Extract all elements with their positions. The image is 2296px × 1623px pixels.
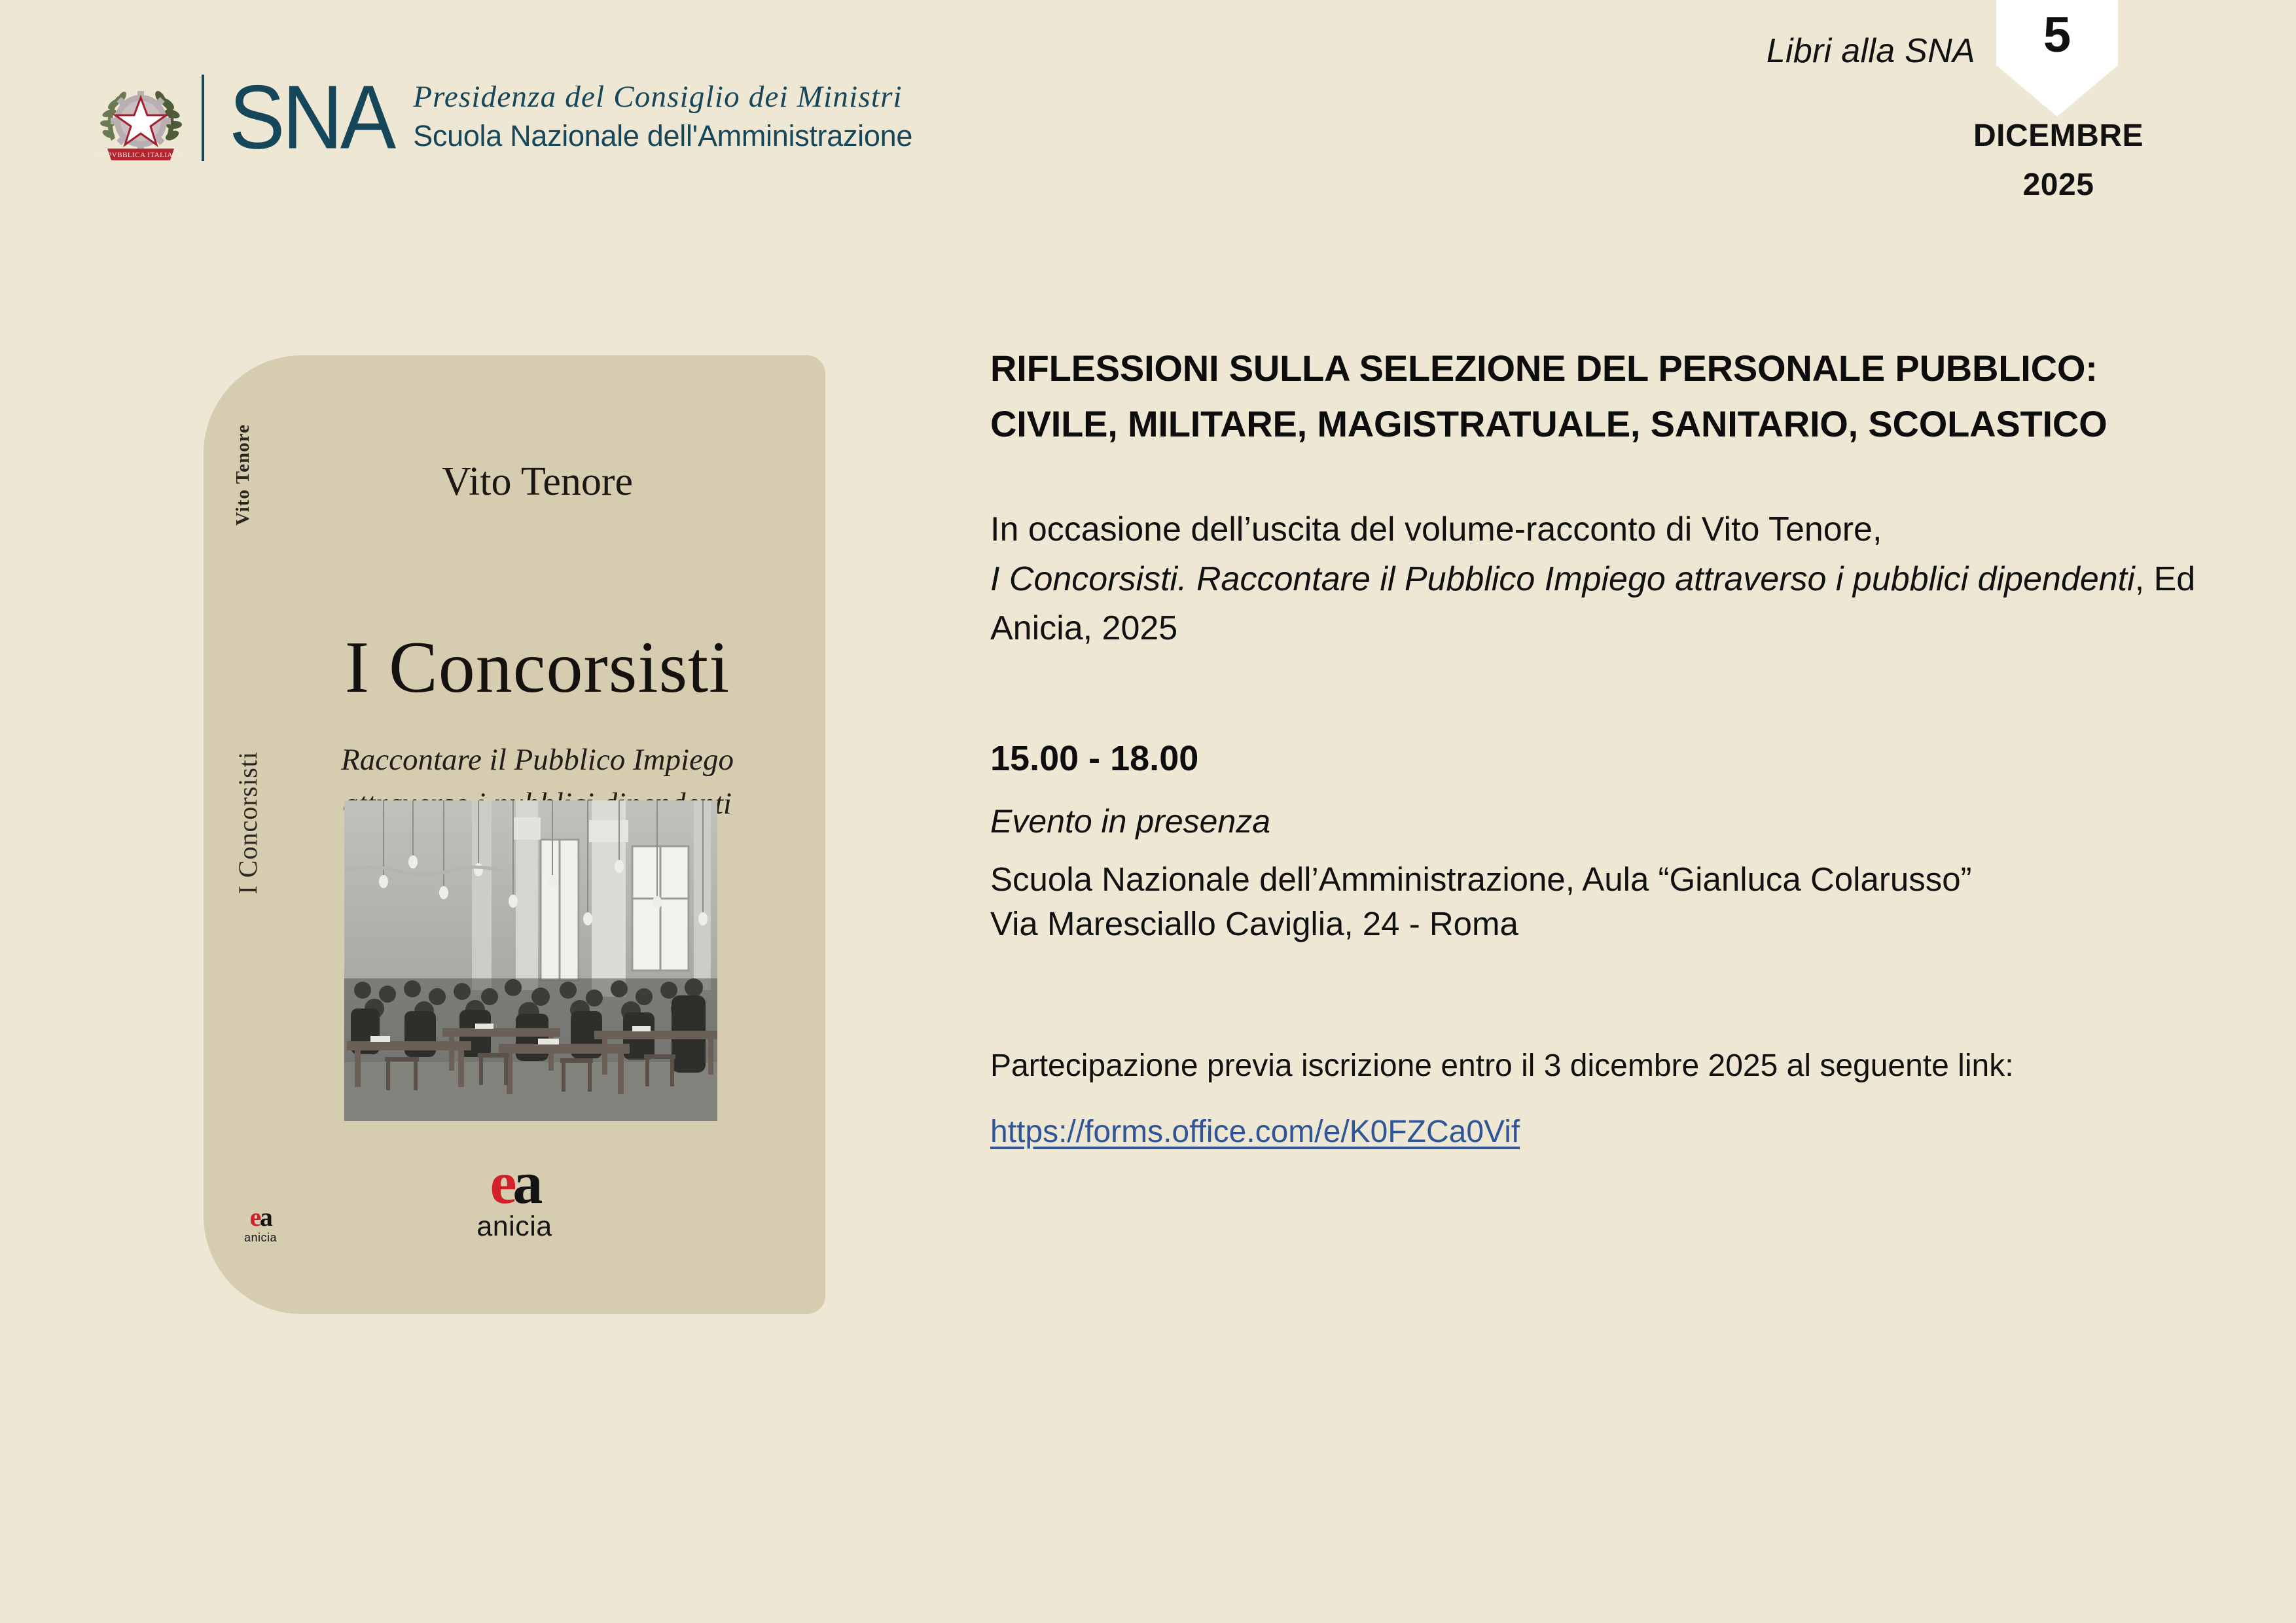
publisher-name-small: anicia [244, 1231, 277, 1245]
book-title: I Concorsisti [276, 626, 799, 710]
event-details: RIFLESSIONI SULLA SELEZIONE DEL PERSONAL… [990, 340, 2208, 1150]
book-cover-photo [344, 800, 717, 1121]
publisher-name: anicia [204, 1211, 825, 1243]
logo-divider [202, 75, 204, 161]
event-title: RIFLESSIONI SULLA SELEZIONE DEL PERSONAL… [990, 340, 2208, 452]
sna-wordmark: Presidenza del Consiglio dei Ministri Sc… [413, 79, 912, 157]
date-month: DICEMBRE [1944, 118, 2173, 154]
italian-republic-emblem-icon: REPVBBLICA ITALIANA [98, 69, 183, 167]
book-cover: Vito Tenore I Concorsisti Vito Tenore I … [204, 355, 825, 1314]
book-author: Vito Tenore [276, 459, 799, 505]
date-year: 2025 [1944, 167, 2173, 203]
publisher-mark-icon-small: ea [244, 1206, 277, 1228]
svg-text:REPVBBLICA ITALIANA: REPVBBLICA ITALIANA [98, 151, 183, 159]
book-spine-author: Vito Tenore [232, 424, 254, 526]
scuola-line: Scuola Nazionale dell'Amministrazione [413, 118, 912, 154]
sna-header-logo: REPVBBLICA ITALIANA SNA Presidenza del C… [98, 69, 912, 167]
event-venue-line1: Scuola Nazionale dell’Amministrazione, A… [990, 857, 2208, 901]
registration-note: Partecipazione previa iscrizione entro i… [990, 1044, 2208, 1088]
event-venue: Scuola Nazionale dell’Amministrazione, A… [990, 857, 2208, 946]
event-time: 15.00 - 18.00 [990, 738, 2208, 779]
book-spine-title: I Concorsisti [232, 751, 263, 895]
event-mode: Evento in presenza [990, 802, 2208, 840]
publisher-logo: ea anicia [204, 1157, 825, 1243]
series-label: Libri alla SNA [1767, 31, 1975, 71]
publisher-mark-icon: ea [204, 1157, 825, 1208]
date-badge: 5 [1996, 0, 2118, 116]
registration-link[interactable]: https://forms.office.com/e/K0FZCa0Vif [990, 1114, 1520, 1150]
event-title-line1: RIFLESSIONI SULLA SELEZIONE DEL PERSONAL… [990, 340, 2208, 396]
event-venue-line2: Via Maresciallo Caviglia, 24 - Roma [990, 902, 2208, 946]
event-intro: In occasione dell’uscita del volume-racc… [990, 505, 2208, 653]
publisher-logo-spine: ea anicia [244, 1206, 277, 1245]
presidenza-line: Presidenza del Consiglio dei Ministri [413, 79, 912, 115]
event-intro-book-title: I Concorsisti. Raccontare il Pubblico Im… [990, 560, 2135, 598]
publisher-mark-e: e [490, 1149, 513, 1216]
publisher-mark-a-small: a [260, 1202, 272, 1232]
date-day: 5 [2043, 10, 2071, 60]
publisher-mark-a: a [512, 1149, 539, 1216]
sna-acronym: SNA [229, 73, 393, 163]
publisher-mark-e-small: e [250, 1202, 260, 1232]
event-title-line2: CIVILE, MILITARE, MAGISTRATUALE, SANITAR… [990, 396, 2208, 452]
book-subtitle-line1: Raccontare il Pubblico Impiego [282, 738, 793, 782]
event-intro-line1: In occasione dell’uscita del volume-racc… [990, 510, 1882, 548]
